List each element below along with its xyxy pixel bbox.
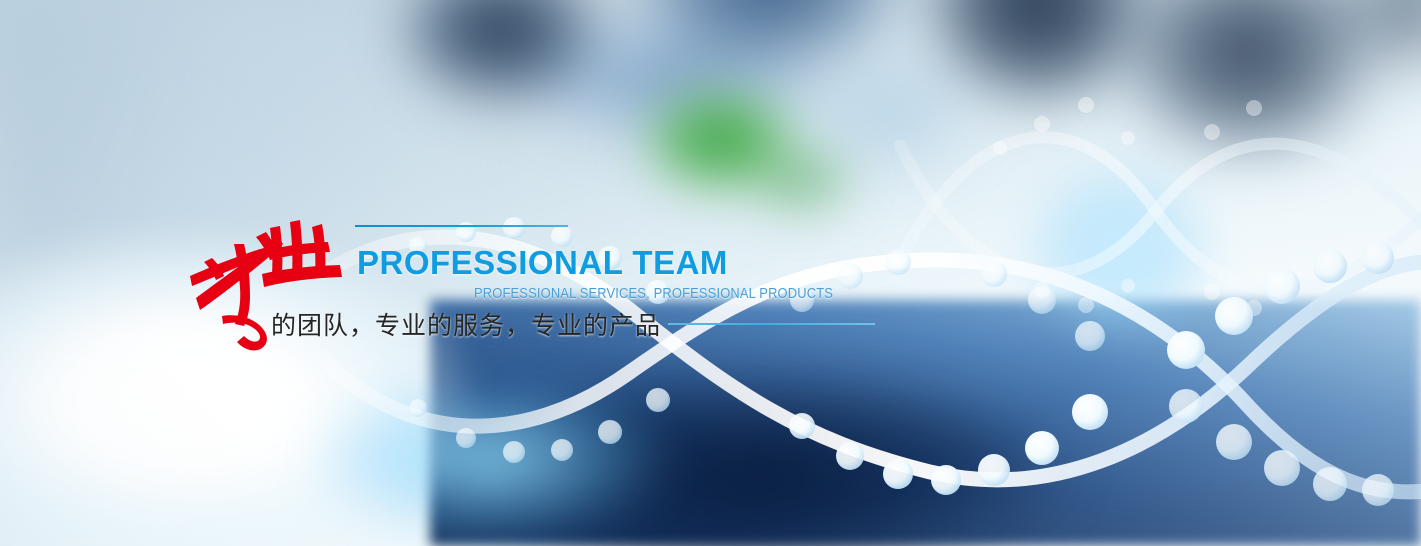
- chinese-tagline: 的团队，专业的服务，专业的产品: [271, 306, 661, 342]
- rule-bottom: [668, 323, 875, 325]
- banner-text-block: PROFESSIONAL TEAM PROFESSIONAL SERVICES,…: [0, 0, 1421, 546]
- rule-top: [355, 225, 568, 227]
- hero-banner: PROFESSIONAL TEAM PROFESSIONAL SERVICES,…: [0, 0, 1421, 546]
- page-title: PROFESSIONAL TEAM: [357, 244, 728, 282]
- page-subtitle: PROFESSIONAL SERVICES, PROFESSIONAL PROD…: [474, 285, 833, 302]
